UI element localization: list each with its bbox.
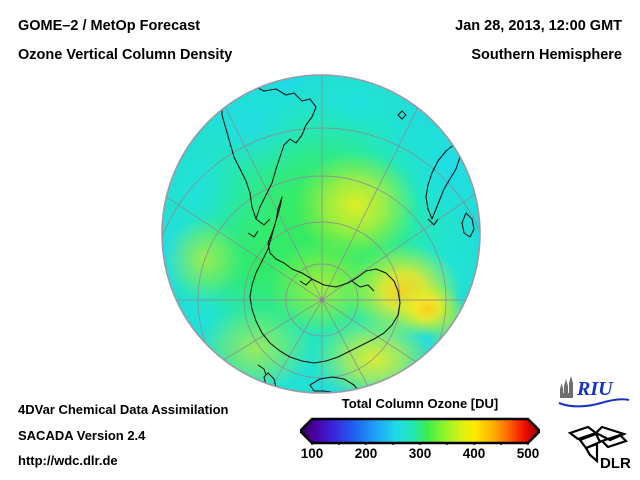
dlr-wordmark: DLR (600, 455, 631, 472)
colorbar-tick-labels: 100200300400500 (300, 446, 540, 468)
ozone-map-globe (160, 73, 484, 397)
footer-method: 4DVar Chemical Data Assimilation (18, 402, 229, 417)
colorbar-tick-300: 300 (409, 446, 432, 461)
south-pole-marker (320, 298, 323, 301)
riu-logo: RIU #riu-logo g[data-name="cathedral-tow… (557, 374, 631, 408)
riu-wordmark: RIU (576, 378, 614, 400)
colorbar-tick-500: 500 (517, 446, 540, 461)
colorbar-title: Total Column Ozone [DU] (300, 396, 540, 411)
colorbar: Total Column Ozone [DU] 100200300400500 (300, 396, 540, 476)
figure-canvas: GOME–2 / MetOp Forecast Ozone Vertical C… (0, 0, 640, 480)
title-region: Southern Hemisphere (471, 47, 622, 63)
colorbar-tick-200: 200 (355, 446, 378, 461)
title-product: GOME–2 / MetOp Forecast (18, 18, 200, 34)
dlr-logo: DLR (566, 414, 632, 472)
colorbar-scale (300, 417, 540, 445)
colorbar-tick-400: 400 (463, 446, 486, 461)
title-timestamp: Jan 28, 2013, 12:00 GMT (455, 18, 622, 34)
colorbar-tick-100: 100 (301, 446, 324, 461)
wave-icon (559, 399, 629, 406)
title-variable: Ozone Vertical Column Density (18, 47, 232, 63)
cathedral-towers-icon (560, 376, 573, 398)
footer-url[interactable]: http://wdc.dlr.de (18, 453, 118, 468)
footer-version: SACADA Version 2.4 (18, 428, 145, 443)
